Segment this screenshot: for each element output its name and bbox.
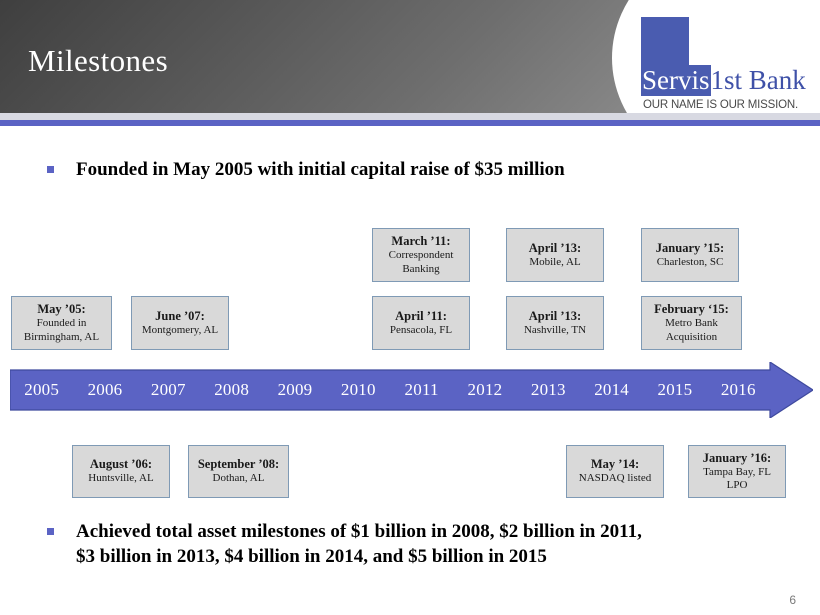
milestone-title: April ’11: [395,309,447,324]
milestone-box-february-15: February ‘15:Metro Bank Acquisition [641,296,742,350]
milestone-title: August ’06: [90,457,152,472]
timeline-year-2015: 2015 [643,380,706,400]
timeline-year-2011: 2011 [390,380,453,400]
bullet-asset-milestones: Achieved total asset milestones of $1 bi… [47,519,642,569]
milestone-title: January ’16: [703,451,771,466]
timeline-year-2010: 2010 [327,380,390,400]
timeline-year-2012: 2012 [453,380,516,400]
page-number: 6 [789,593,796,607]
milestone-detail: Correspondent Banking [389,249,454,276]
logo-1st-bank-text: 1st Bank [711,65,806,95]
timeline-year-2014: 2014 [580,380,643,400]
divider-accent [0,120,820,126]
milestone-box-april-13-mobile: April ’13:Mobile, AL [506,228,604,282]
bullet-asset-milestones-text: Achieved total asset milestones of $1 bi… [76,519,642,569]
milestone-detail: Huntsville, AL [88,472,153,486]
milestone-box-may-05: May ’05:Founded in Birmingham, AL [11,296,112,350]
milestone-title: September ’08: [198,457,279,472]
milestone-detail: Mobile, AL [529,256,580,270]
milestone-detail: Nashville, TN [524,324,586,338]
milestone-title: June ’07: [155,309,205,324]
timeline-year-2005: 2005 [10,380,73,400]
milestone-box-june-07: June ’07:Montgomery, AL [131,296,229,350]
milestone-detail: Metro Bank Acquisition [665,317,718,344]
milestone-box-september-08: September ’08:Dothan, AL [188,445,289,498]
milestone-title: May ’14: [591,457,639,472]
milestone-detail: Montgomery, AL [142,324,218,338]
timeline-year-2009: 2009 [263,380,326,400]
page-title: Milestones [28,43,168,79]
timeline-year-2008: 2008 [200,380,263,400]
milestone-box-january-15: January ’15:Charleston, SC [641,228,739,282]
bullet-square-icon [47,166,54,173]
divider-gray [0,113,820,120]
timeline-year-2016: 2016 [707,380,770,400]
milestone-title: February ‘15: [654,302,729,317]
milestone-detail: NASDAQ listed [579,472,651,486]
milestone-detail: Charleston, SC [657,256,724,270]
milestone-title: January ’15: [656,241,724,256]
bullet-founded-text: Founded in May 2005 with initial capital… [76,157,565,182]
brand-logo: Servis1st Bank OUR NAME IS OUR MISSION. [641,17,813,109]
milestone-box-april-11: April ’11:Pensacola, FL [372,296,470,350]
timeline-year-2006: 2006 [73,380,136,400]
milestone-detail: Dothan, AL [213,472,265,486]
milestone-detail: Founded in Birmingham, AL [24,317,99,344]
milestone-box-march-11: March ’11:Correspondent Banking [372,228,470,282]
milestone-box-may-14: May ’14:NASDAQ listed [566,445,664,498]
milestone-detail: Pensacola, FL [390,324,452,338]
logo-servis-text: Servis [641,65,711,96]
milestone-title: April ’13: [529,241,581,256]
timeline-arrow: 2005200620072008200920102011201220132014… [10,362,813,418]
logo-wordmark: Servis1st Bank [641,65,806,95]
milestone-title: April ’13: [529,309,581,324]
bullet-founded: Founded in May 2005 with initial capital… [47,157,565,182]
timeline-year-labels: 2005200620072008200920102011201220132014… [10,362,770,418]
milestone-title: May ’05: [37,302,85,317]
milestone-box-january-16: January ’16:Tampa Bay, FL LPO [688,445,786,498]
milestone-title: March ’11: [391,234,450,249]
milestone-box-august-06: August ’06:Huntsville, AL [72,445,170,498]
timeline-year-2007: 2007 [137,380,200,400]
timeline-year-2013: 2013 [517,380,580,400]
logo-tagline: OUR NAME IS OUR MISSION. [643,99,798,111]
bullet-square-icon [47,528,54,535]
milestone-detail: Tampa Bay, FL LPO [703,466,771,493]
milestone-box-april-13-nashville: April ’13:Nashville, TN [506,296,604,350]
